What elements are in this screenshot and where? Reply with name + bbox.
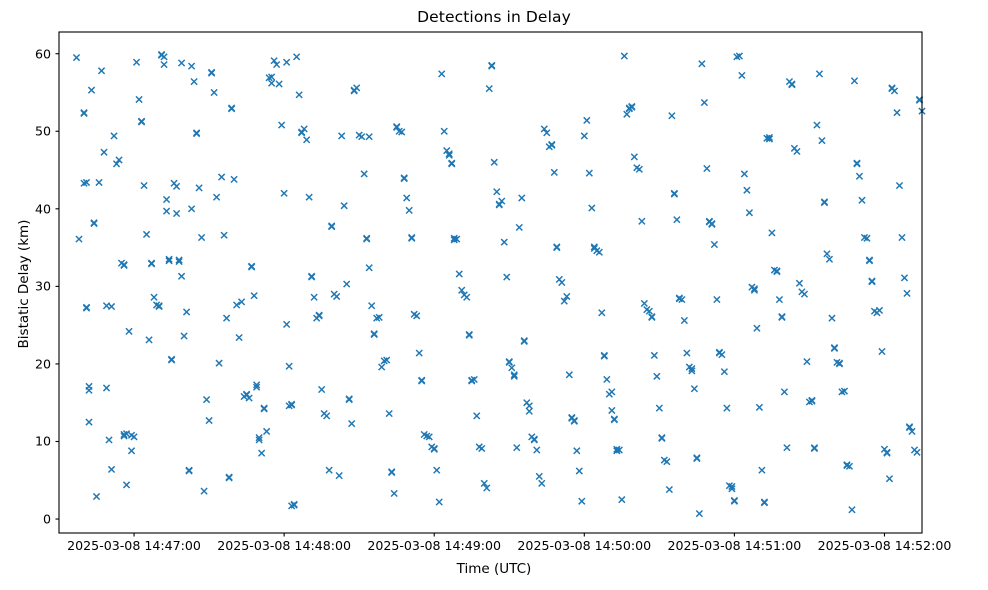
- matplotlib-figure: Detections in Delay 2025-03-08 14:47:002…: [0, 0, 988, 590]
- x-tick-label-2: 2025-03-08 14:49:00: [367, 538, 501, 553]
- scatter-plot-canvas: [0, 0, 988, 590]
- x-axis-label: Time (UTC): [0, 561, 988, 577]
- y-tick-label-0: 0: [0, 512, 51, 527]
- x-tick-label-3: 2025-03-08 14:50:00: [517, 538, 651, 553]
- y-tick-label-6: 60: [0, 46, 51, 61]
- y-tick-label-1: 10: [0, 434, 51, 449]
- y-axis-label: Bistatic Delay (km): [16, 174, 32, 394]
- x-tick-label-4: 2025-03-08 14:51:00: [668, 538, 802, 553]
- x-tick-label-0: 2025-03-08 14:47:00: [67, 538, 201, 553]
- axes-background: [59, 32, 922, 533]
- y-tick-label-5: 50: [0, 124, 51, 139]
- x-tick-label-1: 2025-03-08 14:48:00: [217, 538, 351, 553]
- x-tick-label-5: 2025-03-08 14:52:00: [818, 538, 952, 553]
